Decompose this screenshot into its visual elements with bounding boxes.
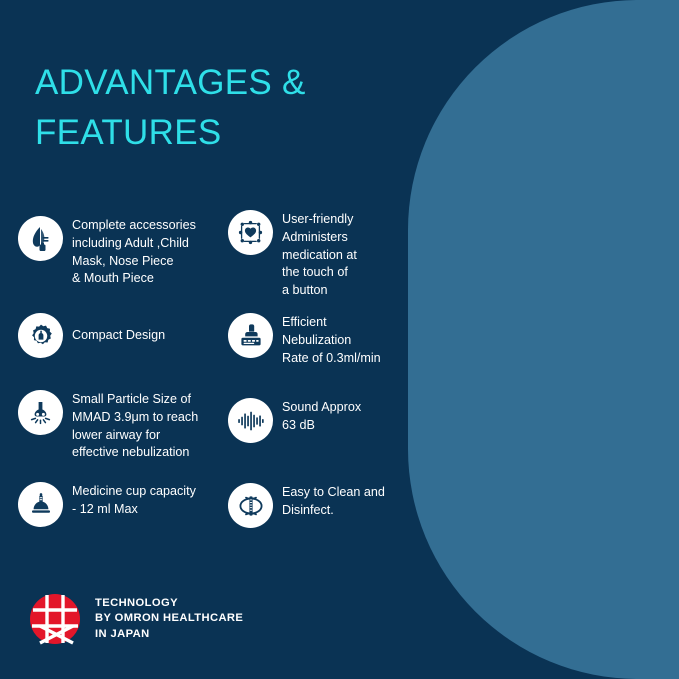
feature-sound-level-text: Sound Approx 63 dB [282, 398, 361, 435]
feature-compact-design: Compact Design [18, 313, 233, 358]
page-title: ADVANTAGES & FEATURES [35, 58, 375, 157]
feature-line: Compact Design [72, 327, 165, 345]
feature-compact-design-text: Compact Design [72, 327, 165, 345]
feature-line: MMAD 3.9μm to reach [72, 409, 198, 427]
feature-line: Sound Approx [282, 399, 361, 417]
technology-badge: TECHNOLOGY BY OMRON HEALTHCARE IN JAPAN [28, 592, 243, 646]
badge-line-1: TECHNOLOGY [95, 596, 243, 611]
feature-line: medication at [282, 247, 357, 265]
feature-line: Rate of 0.3ml/min [282, 350, 381, 368]
feature-line: & Mouth Piece [72, 270, 196, 288]
feature-user-friendly: User-friendly Administers medication at … [228, 210, 403, 300]
product-panel [408, 0, 679, 679]
clean-disinfect-icon [228, 483, 273, 528]
nose-particle-icon [18, 390, 63, 435]
feature-easy-clean: Easy to Clean and Disinfect. [228, 483, 403, 528]
badge-line-2: BY OMRON HEALTHCARE [95, 611, 243, 626]
feature-sound-level: Sound Approx 63 dB [228, 398, 403, 443]
gear-device-icon [18, 313, 63, 358]
feature-line: including Adult ,Child [72, 235, 196, 253]
feature-line: the touch of [282, 264, 357, 282]
feature-medicine-cup: Medicine cup capacity - 12 ml Max [18, 482, 233, 527]
feature-line: Efficient [282, 314, 381, 332]
advantages-features-infographic: ADVANTAGES & FEATURES Complete accessori… [0, 0, 679, 679]
feature-user-friendly-text: User-friendly Administers medication at … [282, 210, 357, 300]
feature-line: Small Particle Size of [72, 391, 198, 409]
japan-flag-grid-logo [28, 592, 82, 646]
heart-network-icon [228, 210, 273, 255]
technology-badge-text: TECHNOLOGY BY OMRON HEALTHCARE IN JAPAN [95, 596, 243, 642]
feature-line: User-friendly [282, 211, 357, 229]
feature-line: Medicine cup capacity [72, 483, 196, 501]
feature-accessories: Complete accessories including Adult ,Ch… [18, 216, 233, 288]
feature-accessories-text: Complete accessories including Adult ,Ch… [72, 216, 196, 288]
page-title-line-2: FEATURES [35, 108, 375, 158]
nebulizer-mask-icon [18, 216, 63, 261]
feature-line: - 12 ml Max [72, 501, 196, 519]
feature-easy-clean-text: Easy to Clean and Disinfect. [282, 483, 385, 520]
feature-line: a button [282, 282, 357, 300]
feature-line: Nebulization [282, 332, 381, 350]
feature-line: 63 dB [282, 417, 361, 435]
feature-line: Disinfect. [282, 502, 385, 520]
feature-line: Mask, Nose Piece [72, 253, 196, 271]
feature-medicine-cup-text: Medicine cup capacity - 12 ml Max [72, 482, 196, 519]
feature-efficient-nebulization: Efficient Nebulization Rate of 0.3ml/min [228, 313, 403, 367]
feature-line: Complete accessories [72, 217, 196, 235]
feature-line: Easy to Clean and [282, 484, 385, 502]
feature-particle-size: Small Particle Size of MMAD 3.9μm to rea… [18, 390, 236, 462]
feature-line: lower airway for [72, 427, 198, 445]
page-title-line-1: ADVANTAGES & [35, 58, 375, 108]
hand-button-press-icon [228, 313, 273, 358]
sound-wave-icon [228, 398, 273, 443]
feature-line: Administers [282, 229, 357, 247]
medicine-cup-icon [18, 482, 63, 527]
feature-line: effective nebulization [72, 444, 198, 462]
feature-particle-size-text: Small Particle Size of MMAD 3.9μm to rea… [72, 390, 198, 462]
badge-line-3: IN JAPAN [95, 627, 243, 642]
feature-efficient-nebulization-text: Efficient Nebulization Rate of 0.3ml/min [282, 313, 381, 367]
